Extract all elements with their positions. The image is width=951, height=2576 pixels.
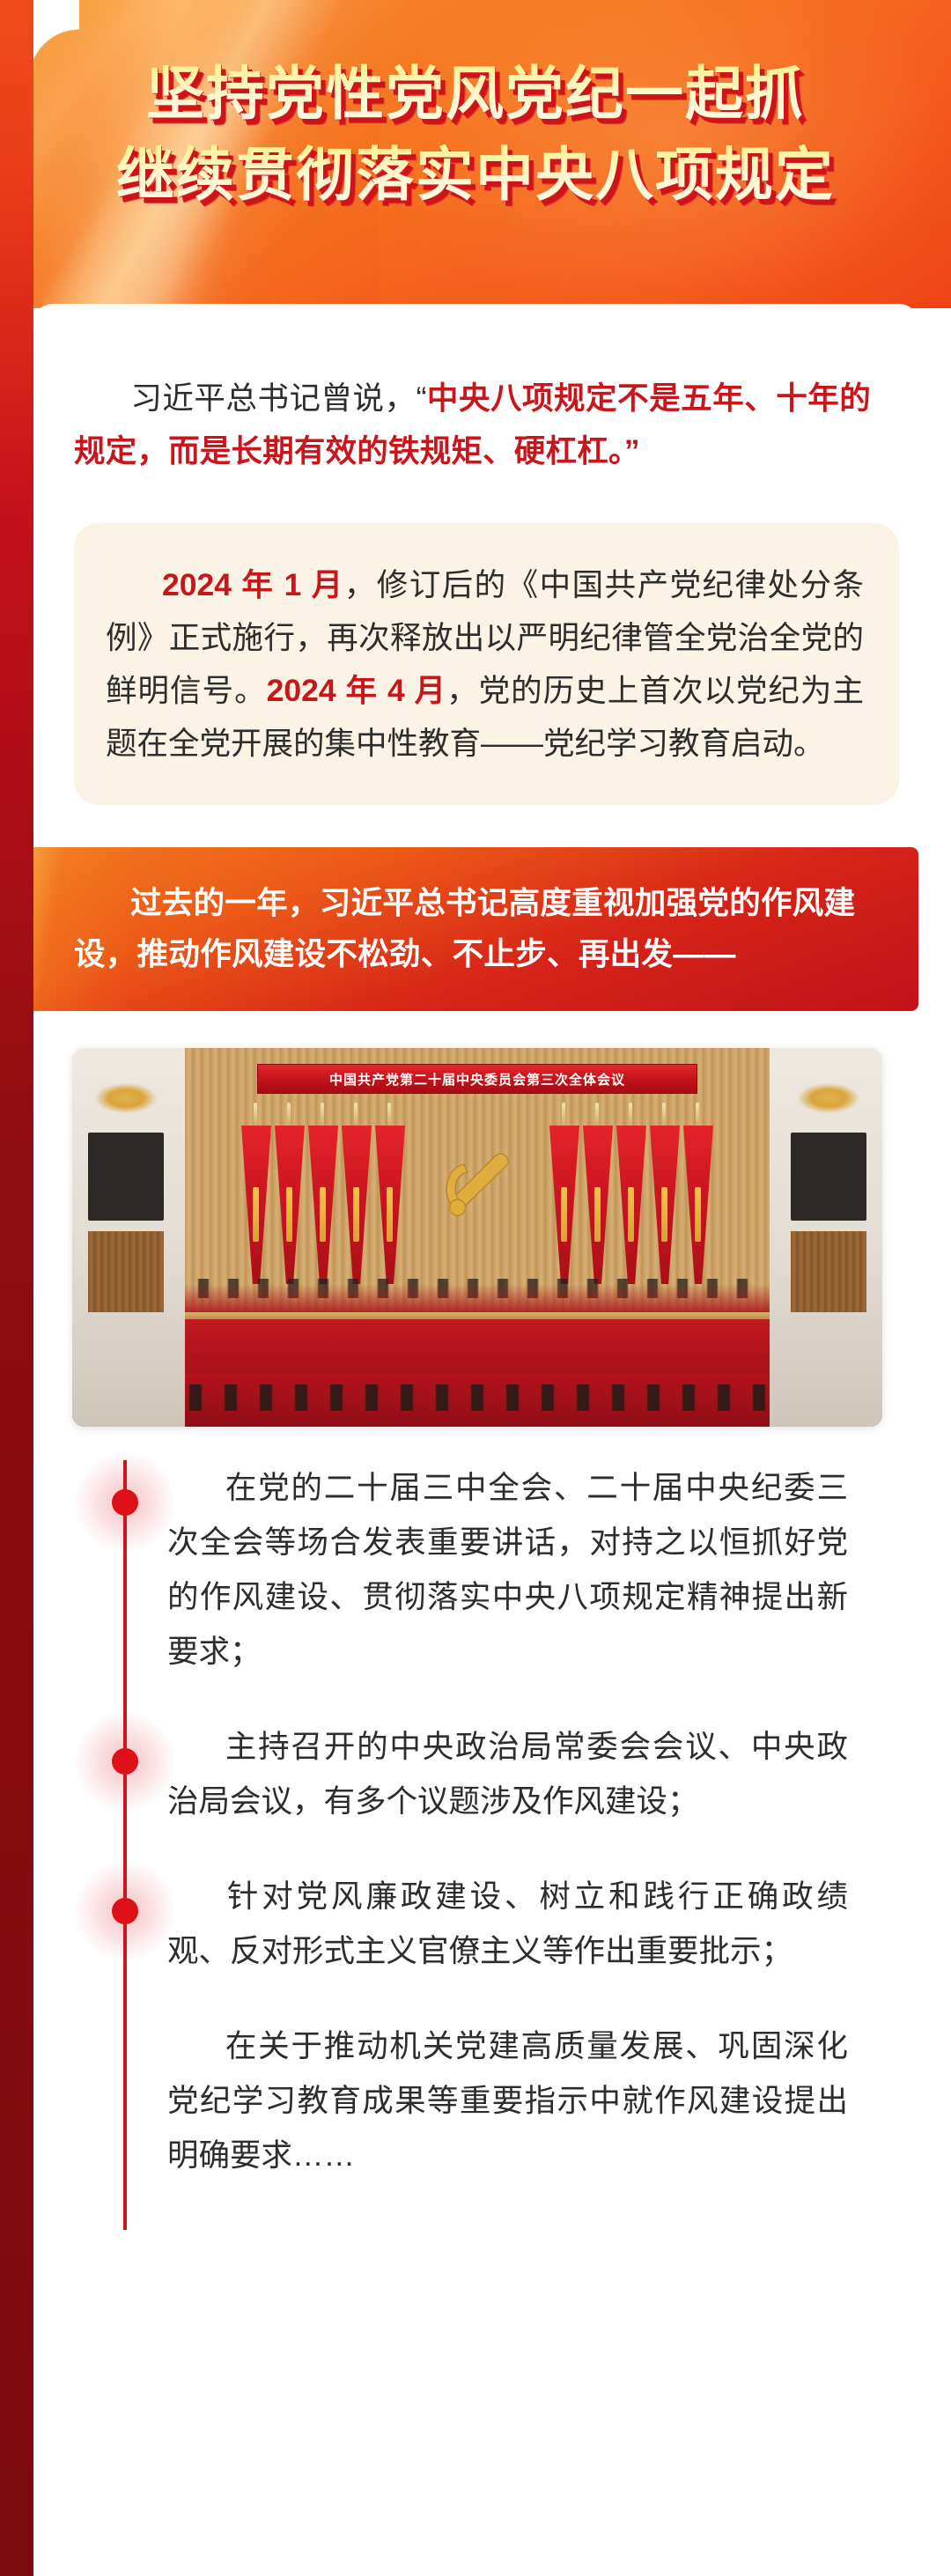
timeline-list: 在党的二十届三中全会、二十届中央纪委三次全会等场合发表重要讲话，对持之以恒抓好党… bbox=[33, 1460, 918, 2276]
timeline-item: 在党的二十届三中全会、二十届中央纪委三次全会等场合发表重要讲话，对持之以恒抓好党… bbox=[33, 1460, 883, 1679]
photo-flag bbox=[615, 1103, 646, 1295]
timeline-item: 主持召开的中央政治局常委会会议、中央政治局会议，有多个议题涉及作风建设； bbox=[33, 1719, 883, 1828]
timeline-dot-icon bbox=[112, 1898, 138, 1924]
photo-stage-platform bbox=[185, 1312, 770, 1374]
photo-flags-right bbox=[548, 1103, 715, 1295]
policy-segment-4: ， bbox=[446, 673, 479, 708]
photo-audience bbox=[72, 1384, 882, 1411]
timeline-item-1-body: 主持召开的中央政治局常委会会议、中央政治局会议，有多个议题涉及作风建设； bbox=[167, 1729, 848, 1819]
banner-line-3: 再出发—— bbox=[579, 936, 736, 971]
photo-conference-banner: 中国共产党第二十届中央委员会第三次全体会议 bbox=[257, 1064, 697, 1094]
photo-flag bbox=[373, 1103, 405, 1295]
policy-segment-1: ，修订后的《中国共产党纪 bbox=[344, 567, 735, 602]
photo-flag bbox=[273, 1103, 305, 1295]
photo-door-right bbox=[791, 1133, 866, 1221]
timeline-item-3-body: 在关于推动机关党建高质量发展、巩固深化党纪学习教育成果等重要指示中就作风建设提出… bbox=[167, 2028, 848, 2173]
quote-highlight-3: 矩、硬杠杠。 bbox=[451, 433, 623, 469]
timeline-item-text: 主持召开的中央政治局常委会会议、中央政治局会议，有多个议题涉及作风建设； bbox=[167, 1719, 848, 1828]
policy-highlight-box: 2024 年 1 月，修订后的《中国共产党纪律处分条例》正式施行，再次释放出以严… bbox=[74, 523, 899, 805]
left-accent-strip bbox=[0, 0, 33, 2576]
photo-flag bbox=[240, 1103, 271, 1295]
policy-segment-6: 集中性教育——党纪学习教育启动。 bbox=[325, 726, 825, 761]
photo-presidium-desk bbox=[185, 1284, 770, 1314]
photo-flag bbox=[306, 1103, 338, 1295]
conference-photo: 中国共产党第二十届中央委员会第三次全体会议 bbox=[72, 1048, 882, 1427]
conference-photo-image: 中国共产党第二十届中央委员会第三次全体会议 bbox=[72, 1048, 882, 1427]
page-title-line-2: 继续贯彻落实中央八项规定 bbox=[0, 136, 951, 217]
quote-paragraph: 习近平总书记曾说，“中央八项规定不是五年、十年的规定，而是长期有效的铁规矩、硬杠… bbox=[74, 372, 871, 477]
timeline-item-text: 针对党风廉政建设、树立和践行正确政绩观、反对形式主义官僚主义等作出重要批示； bbox=[167, 1869, 848, 1978]
photo-flag bbox=[340, 1103, 372, 1295]
policy-date-1: 2024 年 1 月 bbox=[162, 567, 344, 602]
quote-lead: 习近平总书记曾说，“ bbox=[130, 380, 427, 416]
timeline-item-text: 在关于推动机关党建高质量发展、巩固深化党纪学习教育成果等重要指示中就作风建设提出… bbox=[167, 2019, 848, 2182]
timeline-item-0-body: 在党的二十届三中全会、二十届中央纪委三次全会等场合发表重要讲话，对持之以恒抓好党… bbox=[167, 1470, 848, 1669]
policy-date-2: 2024 年 4 月 bbox=[267, 673, 446, 708]
quote-highlight-1: 中央八项规定不 bbox=[427, 380, 650, 416]
timeline-bullet-dot bbox=[72, 1450, 178, 1555]
timeline-item-2-body: 针对党风廉政建设、树立和践行正确政绩观、反对形式主义官僚主义等作出重要批示； bbox=[167, 1878, 848, 1968]
page-title-line-1: 坚持党性党风党纪一起抓 bbox=[0, 55, 951, 136]
quote-close-mark: ” bbox=[624, 433, 640, 469]
timeline-dot-icon bbox=[112, 1748, 138, 1775]
timeline-item: 在关于推动机关党建高质量发展、巩固深化党纪学习教育成果等重要指示中就作风建设提出… bbox=[33, 2019, 883, 2182]
photo-wood-panel-left bbox=[88, 1231, 164, 1312]
photo-wood-panel-right bbox=[791, 1231, 866, 1312]
timeline-bullet-dot bbox=[72, 1709, 178, 1814]
emphasis-banner: 过去的一年，习近平总书记高度重视加强党的作风建设，推动作风建设不松劲、不止步、再… bbox=[0, 847, 918, 1011]
photo-flag bbox=[548, 1103, 579, 1295]
ccp-hammer-sickle-emblem-icon bbox=[428, 1133, 527, 1231]
photo-flags-left bbox=[240, 1103, 407, 1295]
timeline-dot-icon bbox=[112, 1489, 138, 1516]
timeline-item-text: 在党的二十届三中全会、二十届中央纪委三次全会等场合发表重要讲话，对持之以恒抓好党… bbox=[167, 1460, 848, 1679]
photo-flag bbox=[648, 1103, 680, 1295]
photo-flag bbox=[682, 1103, 713, 1295]
infographic-page: 坚持党性党风党纪一起抓 继续贯彻落实中央八项规定 习近平总书记曾说，“中央八项规… bbox=[0, 0, 951, 2576]
photo-wall-ornament-right bbox=[798, 1083, 859, 1113]
photo-flag bbox=[581, 1103, 613, 1295]
photo-wall-ornament-left bbox=[95, 1083, 157, 1113]
content-card: 习近平总书记曾说，“中央八项规定不是五年、十年的规定，而是长期有效的铁规矩、硬杠… bbox=[33, 304, 918, 2576]
banner-line-1: 过去的一年，习近平总书记高度重视加强 bbox=[130, 885, 697, 920]
photo-door-left bbox=[88, 1133, 164, 1221]
page-title: 坚持党性党风党纪一起抓 继续贯彻落实中央八项规定 bbox=[0, 55, 951, 217]
timeline-item: 针对党风廉政建设、树立和践行正确政绩观、反对形式主义官僚主义等作出重要批示； bbox=[33, 1869, 883, 1978]
timeline-bullet-dot bbox=[72, 1858, 178, 1964]
header-banner: 坚持党性党风党纪一起抓 继续贯彻落实中央八项规定 bbox=[0, 0, 951, 308]
